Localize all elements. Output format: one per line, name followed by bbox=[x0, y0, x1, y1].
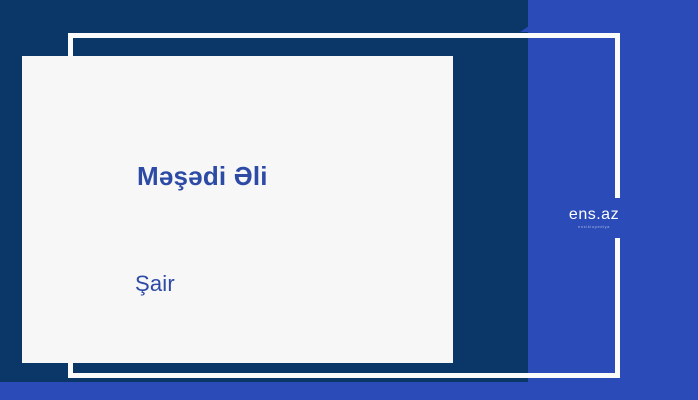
page-title: Məşədi Əli bbox=[137, 161, 268, 192]
content-panel: Məşədi Əli Şair bbox=[22, 56, 453, 363]
page-subtitle: Şair bbox=[135, 271, 175, 297]
info-card: Məşədi Əli Şair ens.az ensiklopediya bbox=[0, 0, 698, 400]
brand-logo-badge[interactable]: ens.az ensiklopediya bbox=[549, 198, 639, 238]
blue-bottom-background bbox=[0, 382, 698, 400]
brand-tagline: ensiklopediya bbox=[578, 225, 610, 229]
brand-wordmark: ens.az bbox=[569, 207, 619, 223]
